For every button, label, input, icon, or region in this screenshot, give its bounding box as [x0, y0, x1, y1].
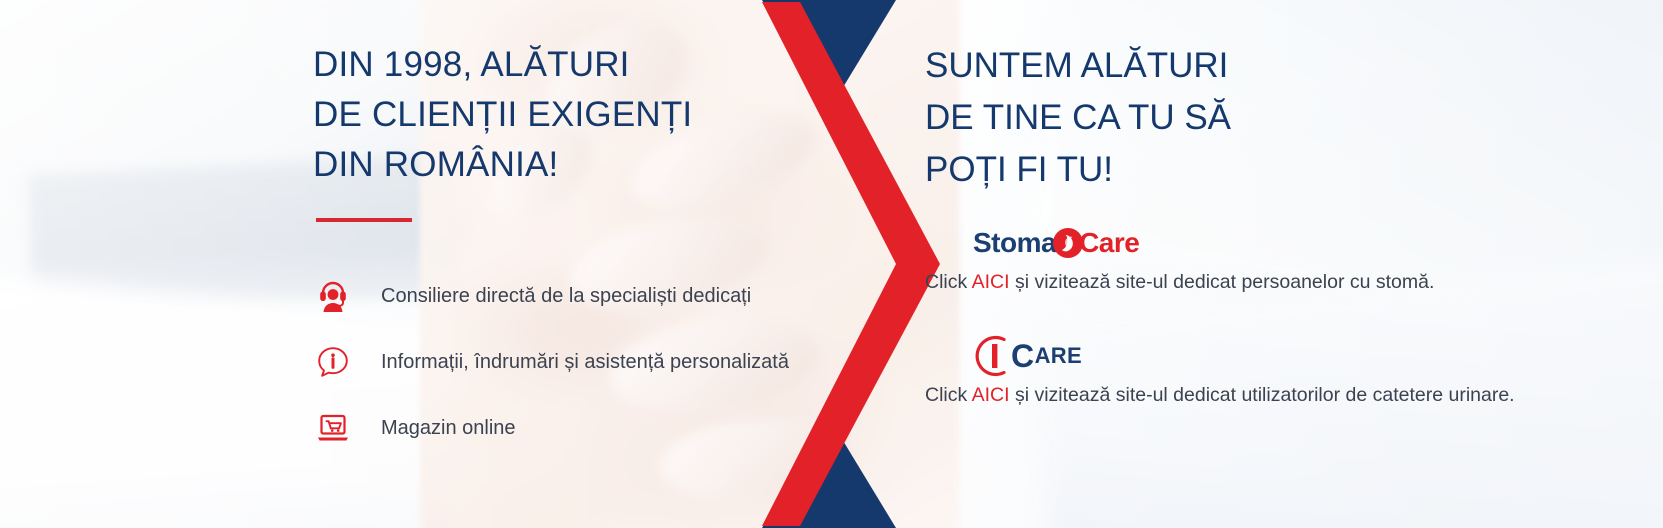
- right-panel: SUNTEM ALĂTURI DE TINE CA TU SĂ POȚI FI …: [925, 40, 1605, 408]
- stomacare-caption-pre: Click: [925, 271, 972, 293]
- feature-label: Magazin online: [381, 415, 516, 441]
- feature-item-consiliere[interactable]: Consiliere directă de la specialiști ded…: [313, 270, 873, 322]
- feature-item-informatii[interactable]: Informații, îndrumări și asistență perso…: [313, 336, 873, 388]
- left-headline-line-3: DIN ROMÂNIA!: [313, 140, 873, 190]
- promo-banner: DIN 1998, ALĂTURI DE CLIENȚII EXIGENȚI D…: [0, 0, 1663, 528]
- feature-label: Informații, îndrumări și asistență perso…: [381, 349, 789, 375]
- stomacare-logo-text-care: Care: [1079, 227, 1139, 259]
- feature-label: Consiliere directă de la specialiști ded…: [381, 283, 751, 309]
- stomacare-logo[interactable]: Stoma Care: [925, 220, 1605, 266]
- icare-logo-text-are: ARE: [1035, 343, 1082, 369]
- stomacare-caption-post: și vizitează site-ul dedicat persoanelor…: [1010, 271, 1435, 293]
- icare-logo[interactable]: C ARE: [925, 333, 1605, 379]
- stomacare-logo-text-stoma: Stoma: [973, 227, 1056, 259]
- stomacare-aici-link[interactable]: AICI: [972, 271, 1010, 293]
- stoma-ring-emblem-icon: [1051, 226, 1085, 260]
- headset-support-icon: [313, 279, 353, 313]
- feature-item-magazin-online[interactable]: Magazin online: [313, 402, 873, 454]
- icare-caption: Click AICI și vizitează site-ul dedicat …: [925, 383, 1605, 408]
- right-headline-line-3: POȚI FI TU!: [925, 144, 1605, 196]
- icare-aici-link[interactable]: AICI: [972, 384, 1010, 406]
- headline-underline-rule: [316, 218, 412, 222]
- icare-caption-post: și vizitează site-ul dedicat utilizatori…: [1010, 384, 1515, 406]
- icare-caption-pre: Click: [925, 384, 972, 406]
- icare-block: C ARE Click AICI și vizitează site-ul de…: [925, 333, 1605, 408]
- icare-ring-emblem-icon: [973, 334, 1019, 378]
- laptop-shopping-cart-icon: [313, 413, 353, 443]
- left-headline-line-1: DIN 1998, ALĂTURI: [313, 40, 873, 90]
- stomacare-block: Stoma Care Click AICI și vizitează site-…: [925, 220, 1605, 295]
- stomacare-caption: Click AICI și vizitează site-ul dedicat …: [925, 270, 1605, 295]
- right-headline: SUNTEM ALĂTURI DE TINE CA TU SĂ POȚI FI …: [925, 40, 1605, 196]
- left-headline-line-2: DE CLIENȚII EXIGENȚI: [313, 90, 873, 140]
- left-panel: DIN 1998, ALĂTURI DE CLIENȚII EXIGENȚI D…: [313, 40, 873, 468]
- right-headline-line-1: SUNTEM ALĂTURI: [925, 40, 1605, 92]
- feature-list: Consiliere directă de la specialiști ded…: [313, 270, 873, 454]
- right-headline-line-2: DE TINE CA TU SĂ: [925, 92, 1605, 144]
- info-speech-bubble-icon: [313, 345, 353, 379]
- left-headline: DIN 1998, ALĂTURI DE CLIENȚII EXIGENȚI D…: [313, 40, 873, 190]
